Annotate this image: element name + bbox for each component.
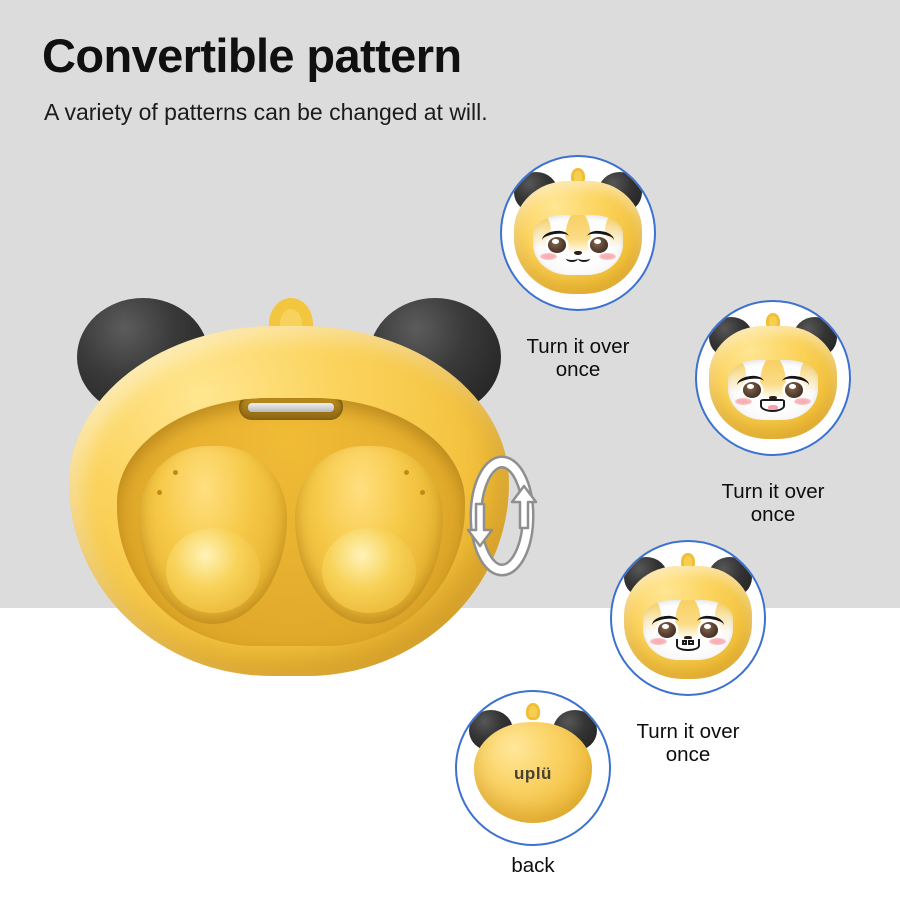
blush-right [599,253,616,260]
tongue [768,405,779,410]
eye-right [785,382,804,398]
face-shell [709,326,837,438]
page-title: Convertible pattern [42,28,462,83]
product-back-view: uplü [457,692,609,844]
nose-icon [574,251,582,255]
tooth-left [682,640,688,645]
face-happy-closed-mouth [502,157,654,309]
usb-c-port-icon [239,398,343,420]
mouth-closed-smile [566,256,589,266]
left-bud-label: L [145,602,157,624]
page-subtitle: A variety of patterns can be changed at … [44,99,488,126]
product-feature-image: Convertible pattern A variety of pattern… [0,0,900,900]
earbud-cradle-left [139,446,287,624]
hanging-loop-icon [526,703,540,720]
blush-right [709,638,726,645]
eye-left [548,237,567,253]
product-body: L R [69,326,509,676]
callout-2-caption: Turn it over once [688,481,858,527]
face-plate [728,360,817,420]
main-product-image: L R [55,290,525,690]
callout-3-caption: Turn it over once [603,721,773,767]
eye-right [700,622,719,638]
blush-left [735,398,752,405]
face-buck-teeth [612,542,764,694]
earbud-cradle-right [295,446,443,624]
face-shell [624,566,752,678]
blush-left [650,638,667,645]
blush-left [540,253,557,260]
rotate-arrows-icon [466,452,538,580]
tooth-right [688,640,694,645]
callout-4-caption: back [448,855,618,878]
mouth-open-smile [760,399,785,412]
face-plate [533,215,622,275]
product-cavity: L R [117,398,465,646]
callout-1-circle[interactable] [500,155,656,311]
face-open-mouth-tongue [697,302,849,454]
callout-2-circle[interactable] [695,300,851,456]
face-plate [643,600,732,660]
callout-4-circle[interactable]: uplü [455,690,611,846]
mouth-buck-teeth [676,639,699,650]
brand-logo: uplü [474,764,593,784]
blush-right [794,398,811,405]
callout-3-circle[interactable] [610,540,766,696]
right-bud-label: R [424,602,437,624]
eye-left [658,622,677,638]
face-shell [514,181,642,293]
back-shell: uplü [474,722,593,822]
eye-left [743,382,762,398]
callout-1-caption: Turn it over once [493,336,663,382]
eye-right [590,237,609,253]
